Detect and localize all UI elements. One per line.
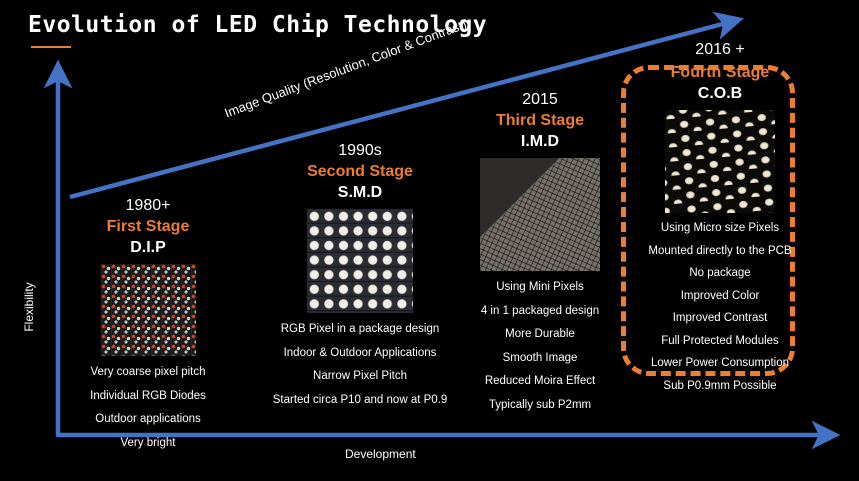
stage-abbreviation: S.M.D (255, 182, 465, 203)
stage-feature-line: Using Micro size Pixels (640, 221, 800, 236)
title-underline-rule (31, 46, 71, 48)
stage-feature-line: More Durable (462, 327, 618, 342)
stage-feature-line: Individual RGB Diodes (60, 389, 236, 404)
stage-year: 2016 + (640, 40, 800, 60)
stage-feature-line: Smooth Image (462, 351, 618, 366)
slide-canvas: Evolution of LED Chip Technology Flexibi… (0, 0, 859, 481)
smd-led-photo (307, 209, 413, 313)
stage-feature-line: Typically sub P2mm (462, 398, 618, 413)
stage-feature-line: Outdoor applications (60, 412, 236, 427)
stage-feature-line: Sub P0.9mm Possible (640, 379, 800, 394)
stage-feature-line: Very coarse pixel pitch (60, 365, 236, 380)
stage-feature-line: Very bright (60, 436, 236, 451)
stage-card-second[interactable]: 1990s Second Stage S.M.D RGB Pixel in a … (255, 141, 465, 407)
stage-feature-line: 4 in 1 packaged design (462, 304, 618, 319)
x-axis-label: Development (345, 447, 416, 461)
imd-led-photo (480, 158, 600, 271)
stage-year: 1980+ (60, 196, 236, 216)
stage-year: 2015 (462, 90, 618, 110)
stage-feature-line: Using Mini Pixels (462, 280, 618, 295)
stage-card-third[interactable]: 2015 Third Stage I.M.D Using Mini Pixels… (462, 90, 618, 412)
stage-feature-line: Improved Contrast (640, 311, 800, 326)
stage-card-first[interactable]: 1980+ First Stage D.I.P Very coarse pixe… (60, 196, 236, 450)
stage-name: Fourth Stage (640, 62, 800, 83)
stage-year: 1990s (255, 141, 465, 161)
stage-feature-line: Lower Power Consumption (640, 356, 800, 371)
stage-feature-line: RGB Pixel in a package design (255, 322, 465, 337)
y-axis-label: Flexibility (22, 262, 36, 352)
stage-abbreviation: C.O.B (640, 83, 800, 104)
stage-name: First Stage (60, 216, 236, 237)
stage-feature-line: Mounted directly to the PCB (640, 244, 800, 259)
stage-name: Third Stage (462, 110, 618, 131)
stage-card-fourth[interactable]: Fourth Stage C.O.B Using Micro size Pixe… (640, 62, 800, 393)
cob-led-photo (665, 110, 775, 213)
stage-feature-line: Started circa P10 and now at P0.9 (255, 393, 465, 408)
stage-feature-line: Indoor & Outdoor Applications (255, 346, 465, 361)
stage-feature-line: No package (640, 266, 800, 281)
stage-abbreviation: D.I.P (60, 237, 236, 258)
stage-feature-line: Narrow Pixel Pitch (255, 369, 465, 384)
stage-feature-line: Full Protected Modules (640, 334, 800, 349)
stage-name: Second Stage (255, 161, 465, 182)
dip-led-photo (101, 264, 196, 356)
stage-feature-line: Reduced Moira Effect (462, 374, 618, 389)
stage-feature-line: Improved Color (640, 289, 800, 304)
stage-abbreviation: I.M.D (462, 131, 618, 152)
